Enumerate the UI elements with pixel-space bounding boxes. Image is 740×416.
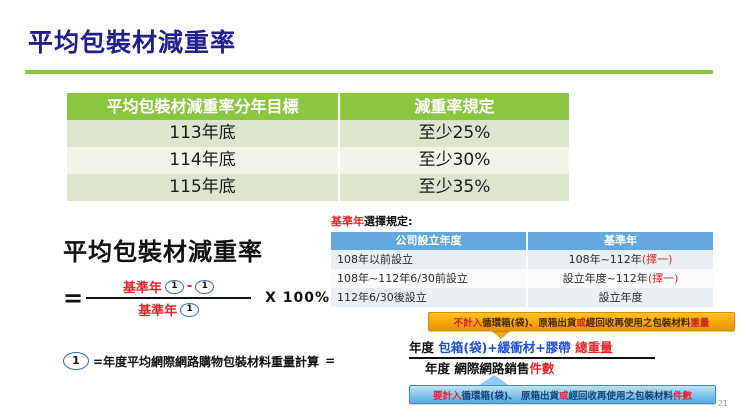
table-row: 108年以前設立 108年~112年(擇一) [331,250,713,269]
cell-base-year: 設立年度~112年(擇一) [527,269,713,288]
blue-callout-mid: 或 [559,388,569,402]
cell-base-year-value: 設立年度~112年 [563,272,648,285]
table-header-row: 公司設立年度 基準年 [331,232,713,250]
definition-fraction: 年度 包箱(袋)+緩衝材+膠帶 總重量 年度 網際網路銷售件數 [409,339,659,377]
formula-fraction: 基準年 1 - 1 基準年 1 [86,276,251,320]
circled-one-marker: 1 [180,303,199,317]
title-underline-rule [25,70,713,74]
table-row: 115年底 至少35% [67,174,569,201]
orange-callout-banner: 不計入循環箱(袋)、原箱出貨或經回收再使用之包裝材料重量 [428,312,735,331]
caption-rule-text: 選擇規定: [364,215,412,228]
cell-rule: 至少35% [339,174,569,201]
base-year-selection-table: 公司設立年度 基準年 108年以前設立 108年~112年(擇一) 108年~1… [331,232,713,307]
cell-base-year-note: (擇一) [648,272,679,285]
orange-callout-tail: 經回收再使用之包裝材料 [586,315,691,329]
orange-callout-mid: 或 [576,315,586,329]
definition-text: =年度平均網際網路購物包裝材料重量計算 [93,353,319,370]
cell-founding-year: 108年~112年6/30前設立 [331,269,527,288]
cell-base-year-note: (擇一) [642,253,673,266]
blue-callout-lead: 要計入 [433,388,462,402]
cell-year: 113年底 [67,120,339,147]
definition-line: 1 =年度平均網際網路購物包裝材料重量計算 = [63,352,341,370]
denominator-channel-label: 網際網路銷售 [454,361,529,376]
cell-founding-year: 112年6/30後設立 [331,288,527,307]
formula-equals-sign: = [63,286,83,310]
formula-multiplier: X 100% [265,290,330,306]
minus-sign: - [187,279,192,294]
formula-heading: 平均包裝材減重率 [63,232,263,267]
cell-rule: 至少30% [339,147,569,174]
orange-callout-emphasis: 重量 [690,315,709,329]
col-header-base-year: 基準年 [527,232,713,250]
blue-callout-emphasis: 件數 [673,388,692,402]
caption-base-year-keyword: 基準年 [331,215,364,228]
page-title: 平均包裝材減重率 [28,30,236,55]
orange-callout-lead: 不計入 [454,315,483,329]
col-header-reduction-rule: 減重率規定 [339,93,569,120]
formula-denominator: 基準年 1 [134,299,203,320]
slide-root: 平均包裝材減重率 平均包裝材減重率分年目標 減重率規定 113年底 至少25% … [0,0,740,416]
definition-denominator: 年度 網際網路銷售件數 [409,360,554,377]
cell-rule: 至少25% [339,120,569,147]
numerator-base-year-label: 基準年 [123,277,162,296]
blue-callout-banner: 要計入循環箱(袋)、 原箱出貨或經回收再使用之包裝材料件數 [409,385,716,404]
denominator-unit-count: 件數 [529,361,554,376]
blue-callout-body: 循環箱(袋)、 原箱出貨 [461,388,559,402]
circled-one-marker: 1 [63,352,89,370]
blue-callout-tail: 經回收再使用之包裝材料 [569,388,674,402]
cell-base-year-value: 108年~112年 [569,253,642,266]
cell-year: 114年底 [67,147,339,174]
formula-numerator: 基準年 1 - 1 [119,276,218,297]
circled-one-marker: 1 [195,280,214,294]
table-row: 108年~112年6/30前設立 設立年度~112年(擇一) [331,269,713,288]
numerator-total-weight: 總重量 [575,340,613,355]
denominator-year-prefix: 年度 [425,361,450,376]
table-header-row: 平均包裝材減重率分年目標 減重率規定 [67,93,569,120]
col-header-year-target: 平均包裝材減重率分年目標 [67,93,339,120]
table-row: 113年底 至少25% [67,120,569,147]
reduction-target-table: 平均包裝材減重率分年目標 減重率規定 113年底 至少25% 114年底 至少3… [67,93,569,201]
fraction-bar [409,357,655,359]
numerator-year-prefix: 年度 [409,340,434,355]
orange-callout-body: 循環箱(袋)、原箱出貨 [482,315,576,329]
numerator-material-items: 包箱(袋)+緩衝材+膠帶 [438,340,570,355]
definition-numerator: 年度 包箱(袋)+緩衝材+膠帶 總重量 [409,339,613,356]
cell-base-year-value: 設立年度 [599,291,643,304]
cell-founding-year: 108年以前設立 [331,250,527,269]
circled-one-marker: 1 [165,280,184,294]
table-row: 114年底 至少30% [67,147,569,174]
reduction-rate-formula: = 基準年 1 - 1 基準年 1 X 100% [63,276,330,320]
col-header-company-founding-year: 公司設立年度 [331,232,527,250]
page-number: 21 [718,399,728,408]
denominator-base-year-label: 基準年 [138,300,177,319]
base-year-table-caption: 基準年選擇規定: [331,213,412,229]
cell-year: 115年底 [67,174,339,201]
cell-base-year: 設立年度 [527,288,713,307]
definition-equals-sign: = [325,354,335,368]
table-row: 112年6/30後設立 設立年度 [331,288,713,307]
cell-base-year: 108年~112年(擇一) [527,250,713,269]
